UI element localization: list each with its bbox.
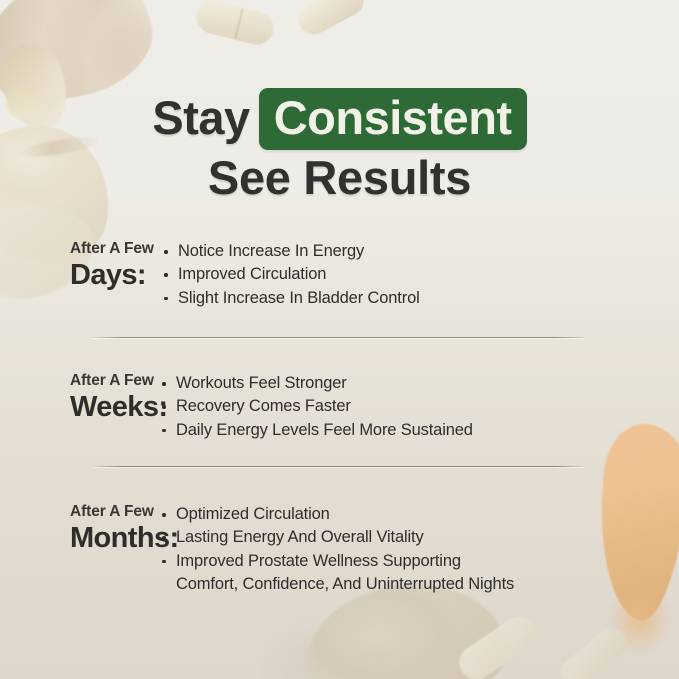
capsule-icon-top-left xyxy=(193,0,277,48)
list-item: Notice Increase In Energy xyxy=(162,240,600,263)
capsule-icon-top-right xyxy=(293,0,369,40)
section-label-days: After A Few Days: xyxy=(0,240,162,292)
section-eyebrow-months: After A Few xyxy=(70,503,162,520)
section-divider-2 xyxy=(93,466,585,467)
list-item-continuation: Comfort, Confidence, And Uninterrupted N… xyxy=(162,573,650,596)
headline-see-results: See Results xyxy=(208,154,471,203)
capsule-seam-icon xyxy=(234,8,243,39)
bottom-shadow-icon xyxy=(260,619,380,679)
list-item: Workouts Feel Stronger xyxy=(162,372,620,395)
section-label-weeks: After A Few Weeks: xyxy=(0,372,162,424)
list-item: Daily Energy Levels Feel More Sustained xyxy=(162,419,620,442)
benefit-list-months: Optimized Circulation Lasting Energy And… xyxy=(162,503,650,597)
section-period-weeks: Weeks: xyxy=(70,391,162,423)
timeline-section-months: After A Few Months: Optimized Circulatio… xyxy=(0,503,650,597)
section-eyebrow-days: After A Few xyxy=(70,240,162,257)
headline-word-stay: Stay xyxy=(152,94,249,143)
list-item: Optimized Circulation xyxy=(162,503,650,526)
capsule-icon-bottom-center xyxy=(453,610,543,679)
list-item: Slight Increase In Bladder Control xyxy=(162,287,600,310)
benefit-list-days: Notice Increase In Energy Improved Circu… xyxy=(162,240,600,310)
timeline-section-days: After A Few Days: Notice Increase In Ene… xyxy=(0,240,600,310)
section-divider-1 xyxy=(93,337,585,338)
list-item: Recovery Comes Faster xyxy=(162,395,620,418)
headline-line-1: StayConsistent xyxy=(0,88,679,150)
headline-line-2: See Results xyxy=(0,154,679,203)
benefit-list-weeks: Workouts Feel Stronger Recovery Comes Fa… xyxy=(162,372,620,442)
section-period-months: Months: xyxy=(70,522,162,554)
section-label-months: After A Few Months: xyxy=(0,503,162,555)
list-item: Lasting Energy And Overall Vitality xyxy=(162,526,650,549)
headline-highlight-consistent: Consistent xyxy=(259,88,527,150)
capsule-icon-bottom-right xyxy=(555,622,633,679)
list-item: Improved Circulation xyxy=(162,263,600,286)
turmeric-glow-icon xyxy=(609,596,671,654)
section-eyebrow-weeks: After A Few xyxy=(70,372,162,389)
section-period-days: Days: xyxy=(70,259,162,291)
page-title: StayConsistent See Results xyxy=(0,88,679,203)
list-item: Improved Prostate Wellness Supporting xyxy=(162,550,650,573)
timeline-section-weeks: After A Few Weeks: Workouts Feel Stronge… xyxy=(0,372,620,442)
promo-poster: StayConsistent See Results After A Few D… xyxy=(0,0,679,679)
